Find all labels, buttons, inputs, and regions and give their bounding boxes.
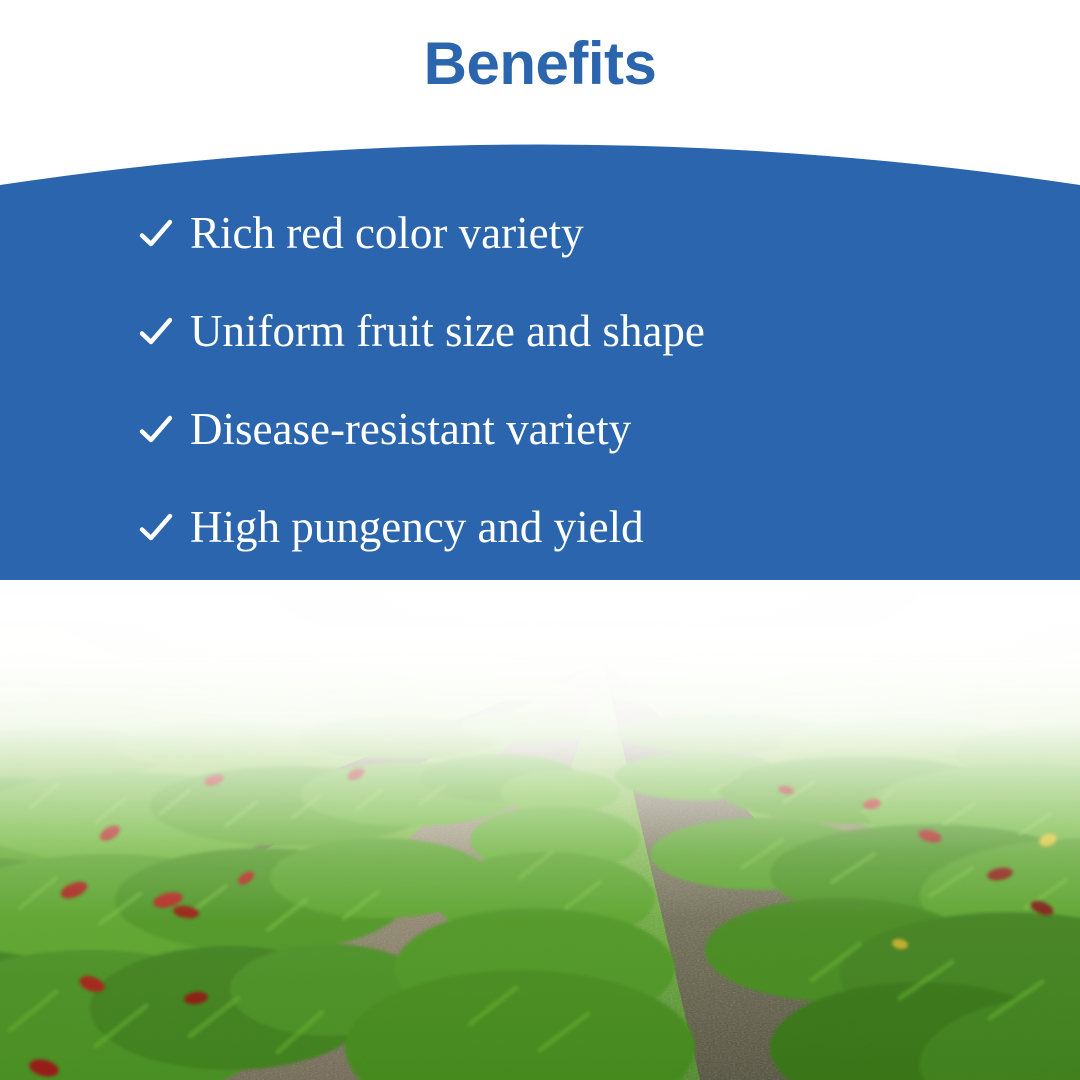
check-icon xyxy=(138,408,174,452)
list-item-label: High pungency and yield xyxy=(190,504,644,551)
page-title: Benefits xyxy=(424,34,657,94)
benefits-list: Rich red color variety Uniform fruit siz… xyxy=(0,185,1080,577)
list-item: Disease-resistant variety xyxy=(138,381,1080,479)
list-item: Rich red color variety xyxy=(138,185,1080,283)
check-icon xyxy=(138,310,174,354)
field-photo xyxy=(0,578,1080,1080)
check-icon xyxy=(138,506,174,550)
check-icon xyxy=(138,212,174,256)
list-item-label: Disease-resistant variety xyxy=(190,406,631,453)
page-title-area: Benefits xyxy=(0,0,1080,118)
list-item: High pungency and yield xyxy=(138,479,1080,577)
list-item-label: Rich red color variety xyxy=(190,210,584,257)
list-item: Uniform fruit size and shape xyxy=(138,283,1080,381)
field-photo-illustration xyxy=(0,578,1080,1080)
list-item-label: Uniform fruit size and shape xyxy=(190,308,705,355)
benefits-infographic: Benefits Rich red color variety Uniform … xyxy=(0,0,1080,1080)
